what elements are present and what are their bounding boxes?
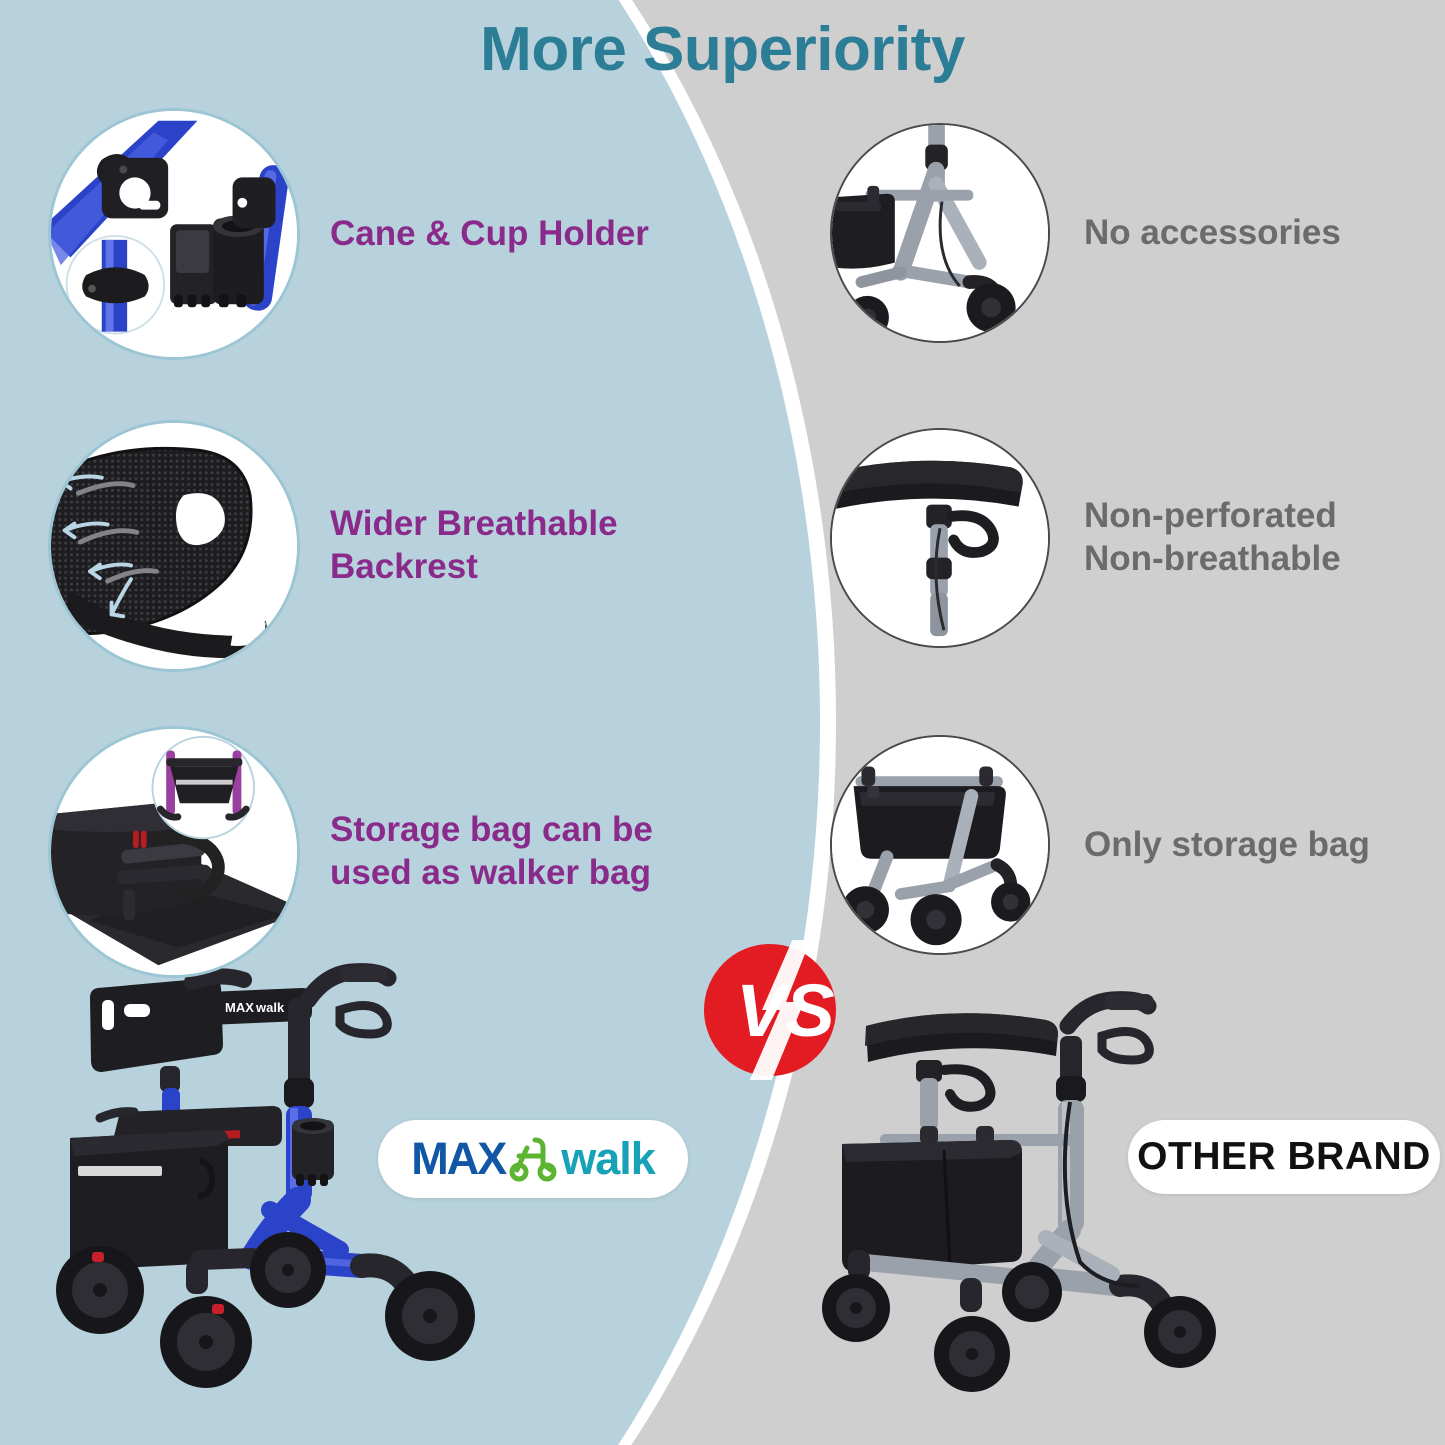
no-accessories-photo [830, 123, 1050, 343]
detachable-storage-bag-photo [48, 726, 300, 978]
feature-label-cane-cup-holder: Cane & Cup Holder [330, 213, 649, 256]
cane-and-cup-holder-photo [48, 108, 300, 360]
feature-label-storage-bag: Storage bag can be used as walker bag [330, 809, 653, 894]
solid-vinyl-backrest-photo [830, 428, 1050, 648]
feature-row-right-1: No accessories [830, 123, 1341, 343]
breathable-mesh-backrest-photo [48, 420, 300, 672]
infographic-canvas: More Superiority [0, 0, 1445, 1445]
feature-row-right-2: Non-perforated Non-breathable [830, 428, 1341, 648]
other-brand-badge: OTHER BRAND [1128, 1120, 1440, 1194]
feature-label-non-breathable: Non-perforated Non-breathable [1084, 495, 1341, 580]
rollator-walker-icon [507, 1136, 559, 1182]
svg-text:walk: walk [255, 1000, 285, 1015]
feature-label-breathable-backrest: Wider Breathable Backrest [330, 503, 618, 588]
feature-row-left-3: Storage bag can be used as walker bag [48, 726, 653, 978]
storage-bag-only-photo [830, 735, 1050, 955]
brand-name-max: MAX [411, 1133, 505, 1185]
feature-label-no-accessories: No accessories [1084, 212, 1341, 255]
brand-name-walk: walk [561, 1133, 655, 1185]
feature-row-left-2: Wider Breathable Backrest [48, 420, 618, 672]
other-brand-label: OTHER BRAND [1137, 1135, 1431, 1179]
feature-row-left-1: Cane & Cup Holder [48, 108, 649, 360]
page-title: More Superiority [0, 14, 1445, 85]
maxwalk-brand-badge: MAX walk [378, 1120, 688, 1198]
versus-badge: VS [700, 940, 840, 1080]
svg-text:MAX: MAX [225, 1000, 254, 1015]
other-brand-gray-rollator-photo [820, 990, 1260, 1440]
feature-label-only-storage-bag: Only storage bag [1084, 824, 1370, 867]
feature-row-right-3: Only storage bag [830, 735, 1370, 955]
